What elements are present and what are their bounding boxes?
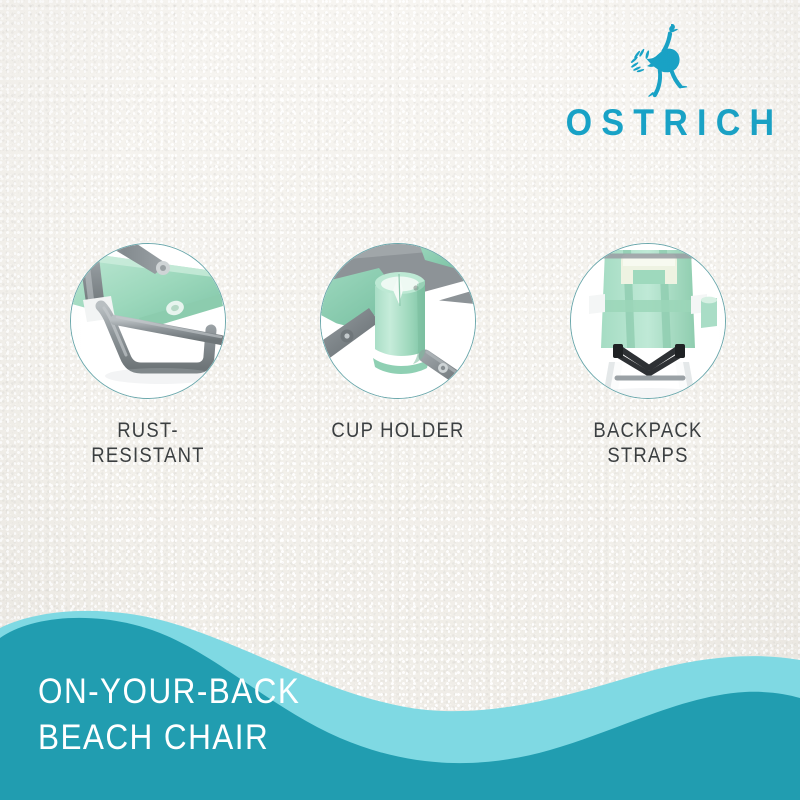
ostrich-bird-icon xyxy=(608,22,700,98)
feature-caption-backpack-straps: BACKPACK STRAPS xyxy=(578,419,719,469)
feature-caption-rust-resistant: RUST- RESISTANT xyxy=(78,419,219,469)
feature-rust-resistant: RUST- RESISTANT xyxy=(68,243,228,469)
folded-chair-back-closeup-illustration xyxy=(571,244,725,398)
brand-wordmark: OSTRICH xyxy=(556,104,751,141)
feature-backpack-straps: BACKPACK STRAPS xyxy=(568,243,728,469)
product-feature-graphic: OSTRICH xyxy=(0,0,800,800)
cup-holder-closeup-illustration xyxy=(321,244,475,398)
chair-frame-closeup-illustration xyxy=(71,244,225,398)
brand-logo: OSTRICH xyxy=(548,22,760,141)
feature-cup-holder: CUP HOLDER xyxy=(318,243,478,444)
feature-image-cup-holder xyxy=(320,243,476,399)
feature-image-backpack-straps xyxy=(570,243,726,399)
feature-caption-cup-holder: CUP HOLDER xyxy=(328,419,469,444)
banner-headline: ON-YOUR-BACK BEACH CHAIR xyxy=(38,669,300,762)
wave-banner: ON-YOUR-BACK BEACH CHAIR xyxy=(0,590,800,800)
feature-image-rust-resistant xyxy=(70,243,226,399)
